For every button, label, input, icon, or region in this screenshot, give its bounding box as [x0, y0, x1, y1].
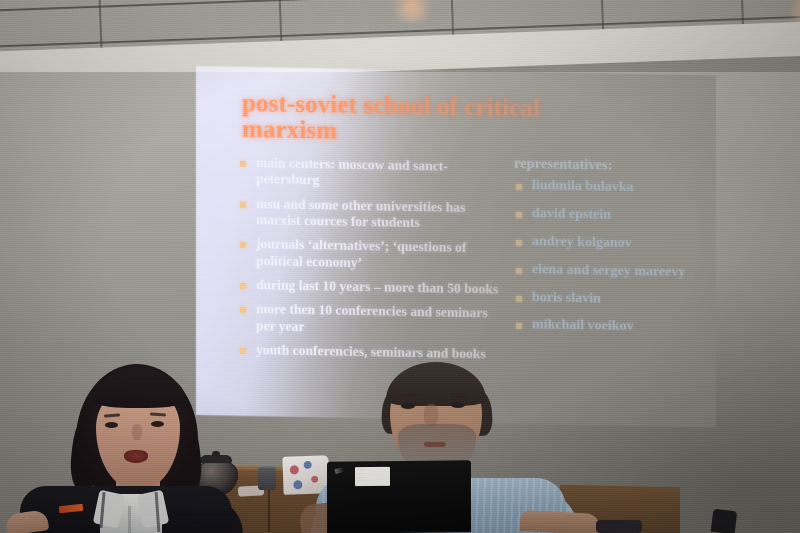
slide-left-column: main centers: moscow and sanct-petersbur…	[238, 155, 506, 371]
woman-mouth	[124, 450, 148, 463]
slide-title: post-soviet school of critical marxism	[242, 91, 542, 147]
man-eye	[401, 403, 415, 409]
sticker-line: · · · · · · ·	[357, 479, 388, 483]
bag-pattern-dot	[311, 476, 318, 483]
man-arm	[520, 510, 601, 533]
list-item: mikchail voeikov	[514, 317, 714, 337]
slide-left-bullet-list: main centers: moscow and sanct-petersbur…	[238, 155, 506, 363]
representatives-heading: representatives:	[514, 156, 714, 177]
list-item: during last 10 years – more than 50 book…	[238, 277, 506, 298]
list-item: more then 10 conferencies and seminars p…	[238, 301, 506, 339]
list-item: youth conferencies, seminars and books	[238, 342, 506, 363]
laptop[interactable]	[327, 460, 471, 533]
woman-blouse-fold	[128, 506, 131, 533]
woman-eye	[151, 421, 164, 427]
dark-object	[596, 520, 642, 533]
conference-room-photo: post-soviet school of critical marxism m…	[0, 0, 800, 533]
bag-pattern-dot	[304, 461, 312, 469]
metal-cup	[258, 468, 276, 490]
list-item: elena and sergey mareevy	[514, 262, 714, 282]
man-eyebrow	[450, 393, 468, 398]
list-item: main centers: moscow and sanct-petersbur…	[238, 155, 506, 193]
laptop-sticker: · · · · · · · · · · · · · · · · · · · · …	[355, 467, 390, 486]
slide-right-bullet-list: liudmila bulavka david epstein andrey ko…	[514, 178, 714, 337]
man-eye	[451, 402, 465, 408]
list-item: david epstein	[514, 206, 714, 226]
ceiling-light-glow	[392, 0, 432, 22]
bag-pattern-dot	[293, 480, 302, 489]
man-nose	[424, 404, 438, 426]
list-item: journals ‘alternatives’; ‘questions of p…	[238, 236, 506, 274]
slide-right-column: representatives: liudmila bulavka david …	[514, 156, 714, 349]
list-item: liudmila bulavka	[514, 178, 714, 198]
list-item: andrey kolganov	[514, 234, 714, 254]
teapot-knob	[212, 451, 220, 457]
bag-pattern-dot	[290, 465, 299, 474]
list-item: msu and some other universities has marx…	[238, 195, 506, 233]
woman-eye	[105, 422, 118, 428]
dark-object	[711, 509, 738, 533]
list-item: boris slavin	[514, 289, 714, 309]
woman-nose	[132, 424, 142, 440]
man-mouth	[424, 442, 446, 447]
